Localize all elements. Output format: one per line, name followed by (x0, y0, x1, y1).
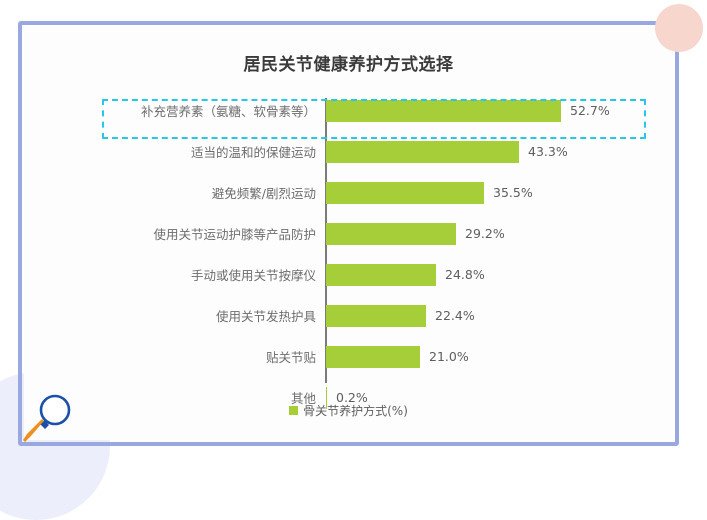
bar-group: 43.3% (326, 134, 568, 169)
bar-value-label: 21.0% (429, 349, 469, 364)
bar[interactable] (326, 141, 519, 163)
legend-label: 骨关节养护方式(%) (303, 402, 408, 419)
bar-row[interactable]: 适当的温和的保健运动 43.3% (24, 134, 673, 169)
category-label: 贴关节贴 (24, 347, 316, 366)
category-label: 手动或使用关节按摩仪 (24, 265, 316, 284)
legend-swatch (289, 406, 298, 415)
bar-row[interactable]: 使用关节发热护具 22.4% (24, 298, 673, 333)
category-label: 补充营养素（氨糖、软骨素等） (24, 101, 316, 120)
bar-value-label: 22.4% (435, 308, 475, 323)
category-label: 适当的温和的保健运动 (24, 142, 316, 161)
bar-group: 52.7% (326, 93, 610, 128)
bar-row[interactable]: 贴关节贴 21.0% (24, 339, 673, 374)
category-label: 使用关节发热护具 (24, 306, 316, 325)
chart-legend: 骨关节养护方式(%) (24, 402, 673, 419)
bar-value-label: 29.2% (465, 226, 505, 241)
chart-title: 居民关节健康养护方式选择 (24, 50, 673, 75)
bar-value-label: 35.5% (493, 185, 533, 200)
bar-value-label: 52.7% (570, 103, 610, 118)
plot-area: 补充营养素（氨糖、软骨素等） 52.7% 适当的温和的保健运动 43.3% 避免… (24, 93, 673, 383)
category-label: 使用关节运动护膝等产品防护 (24, 224, 316, 243)
bar-group: 22.4% (326, 298, 475, 333)
slide-canvas: 居民关节健康养护方式选择 补充营养素（氨糖、软骨素等） 52.7% 适当的温和的… (0, 0, 707, 466)
bar[interactable] (326, 305, 426, 327)
bar-value-label: 24.8% (445, 267, 485, 282)
bar[interactable] (326, 346, 420, 368)
category-label: 避免频繁/剧烈运动 (24, 183, 316, 202)
bar-group: 35.5% (326, 175, 533, 210)
bar-group: 24.8% (326, 257, 485, 292)
bar-value-label: 43.3% (528, 144, 568, 159)
bar[interactable] (326, 264, 436, 286)
bar-row[interactable]: 手动或使用关节按摩仪 24.8% (24, 257, 673, 292)
bar-row[interactable]: 使用关节运动护膝等产品防护 29.2% (24, 216, 673, 251)
bar[interactable] (326, 100, 561, 122)
bar-group: 21.0% (326, 339, 469, 374)
bar-row[interactable]: 避免频繁/剧烈运动 35.5% (24, 175, 673, 210)
bar[interactable] (326, 223, 456, 245)
bar-group: 29.2% (326, 216, 505, 251)
bar[interactable] (326, 182, 484, 204)
bar-row[interactable]: 补充营养素（氨糖、软骨素等） 52.7% (24, 93, 673, 128)
bar-chart: 居民关节健康养护方式选择 补充营养素（氨糖、软骨素等） 52.7% 适当的温和的… (24, 27, 673, 440)
